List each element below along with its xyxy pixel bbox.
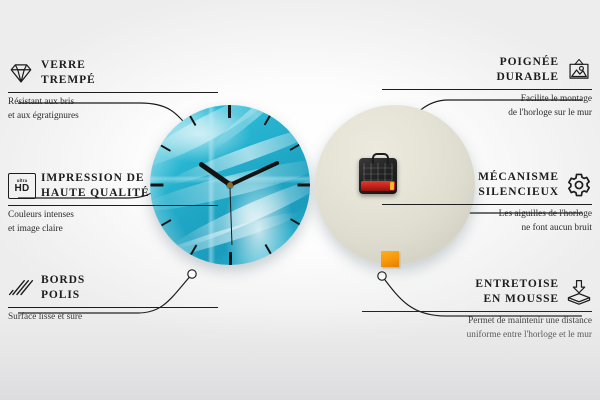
clock-tick-3 xyxy=(230,185,310,186)
feature-title-line2: EN MOUSSE xyxy=(475,292,559,307)
feature-title-line1: POIGNÉE xyxy=(496,55,559,70)
feature-bords-polis: BORDS POLIS Surface lisse et sûre xyxy=(8,273,218,325)
feature-title-line1: ENTRETOISE xyxy=(475,277,559,292)
feature-header: MÉCANISME SILENCIEUX xyxy=(382,170,592,200)
ultra-hd-main-label: HD xyxy=(14,184,29,194)
gear-icon xyxy=(566,172,592,198)
feature-description: Résistant aux bris et aux égratignures xyxy=(8,96,218,123)
feature-header: POIGNÉE DURABLE xyxy=(382,55,592,85)
feature-impression-haute-qualite: ultra HD IMPRESSION DE HAUTE QUALITÉ Cou… xyxy=(8,171,218,236)
feature-title-line1: VERRE xyxy=(41,58,96,73)
feature-desc-line1: Permet de maintenir une distance xyxy=(362,315,592,328)
feature-divider xyxy=(8,205,218,206)
feature-divider xyxy=(382,89,592,90)
feature-divider xyxy=(362,311,592,312)
feature-title-line1: IMPRESSION DE xyxy=(41,171,150,186)
clock-center-cap xyxy=(227,182,233,188)
feature-header: BORDS POLIS xyxy=(8,273,218,303)
feature-description: Les aiguilles de l'horloge ne font aucun… xyxy=(382,208,592,235)
feature-desc-line2: de l'horloge sur le mur xyxy=(382,107,592,120)
feature-desc-line1: Couleurs intenses xyxy=(8,209,218,222)
feature-title-line1: MÉCANISME xyxy=(478,170,559,185)
feature-desc-line2: ne font aucun bruit xyxy=(382,222,592,235)
feature-description: Surface lisse et sûre xyxy=(8,311,218,324)
feature-verre-trempe: VERRE TREMPÉ Résistant aux bris et aux é… xyxy=(8,58,218,123)
feature-title-line2: HAUTE QUALITÉ xyxy=(41,186,150,201)
feature-mecanisme-silencieux: MÉCANISME SILENCIEUX Les aiguilles de l'… xyxy=(382,170,592,235)
feature-title-line2: DURABLE xyxy=(496,70,559,85)
feature-desc-line1: Facilite le montage xyxy=(382,93,592,106)
feature-desc-line2: et image claire xyxy=(8,223,218,236)
feature-title: BORDS POLIS xyxy=(41,273,85,303)
clock-tick-12 xyxy=(230,105,231,185)
feature-description: Permet de maintenir une distance uniform… xyxy=(362,315,592,342)
feature-title: MÉCANISME SILENCIEUX xyxy=(478,170,559,200)
infographic-canvas: VERRE TREMPÉ Résistant aux bris et aux é… xyxy=(0,0,600,400)
feature-desc-line2: et aux égratignures xyxy=(8,110,218,123)
feature-title-line1: BORDS xyxy=(41,273,85,288)
feature-title-line2: TREMPÉ xyxy=(41,73,96,88)
feature-title: POIGNÉE DURABLE xyxy=(496,55,559,85)
feature-divider xyxy=(8,307,218,308)
foam-spacer-pad xyxy=(381,251,399,267)
feature-entretoise-mousse: ENTRETOISE EN MOUSSE Permet de maintenir… xyxy=(362,277,592,342)
feature-title: VERRE TREMPÉ xyxy=(41,58,96,88)
ultra-hd-icon: ultra HD xyxy=(8,173,34,199)
feature-header: ENTRETOISE EN MOUSSE xyxy=(362,277,592,307)
feature-title: ENTRETOISE EN MOUSSE xyxy=(475,277,559,307)
feature-desc-line1: Les aiguilles de l'horloge xyxy=(382,208,592,221)
feature-header: VERRE TREMPÉ xyxy=(8,58,218,88)
feature-desc-line2: uniforme entre l'horloge et le mur xyxy=(362,329,592,342)
feature-poignee-durable: POIGNÉE DURABLE Facilite le montage de l… xyxy=(382,55,592,120)
feature-desc-line1: Surface lisse et sûre xyxy=(8,311,218,324)
diamond-icon xyxy=(8,60,34,86)
wall-hanger-picture-icon xyxy=(566,57,592,83)
foam-spacer-icon xyxy=(566,279,592,305)
feature-description: Facilite le montage de l'horloge sur le … xyxy=(382,93,592,120)
polished-edges-icon xyxy=(8,275,34,301)
feature-title: IMPRESSION DE HAUTE QUALITÉ xyxy=(41,171,150,201)
feature-header: ultra HD IMPRESSION DE HAUTE QUALITÉ xyxy=(8,171,218,201)
feature-desc-line1: Résistant aux bris xyxy=(8,96,218,109)
feature-title-line2: SILENCIEUX xyxy=(478,185,559,200)
feature-divider xyxy=(8,92,218,93)
feature-title-line2: POLIS xyxy=(41,288,85,303)
feature-divider xyxy=(382,204,592,205)
feature-description: Couleurs intenses et image claire xyxy=(8,209,218,236)
